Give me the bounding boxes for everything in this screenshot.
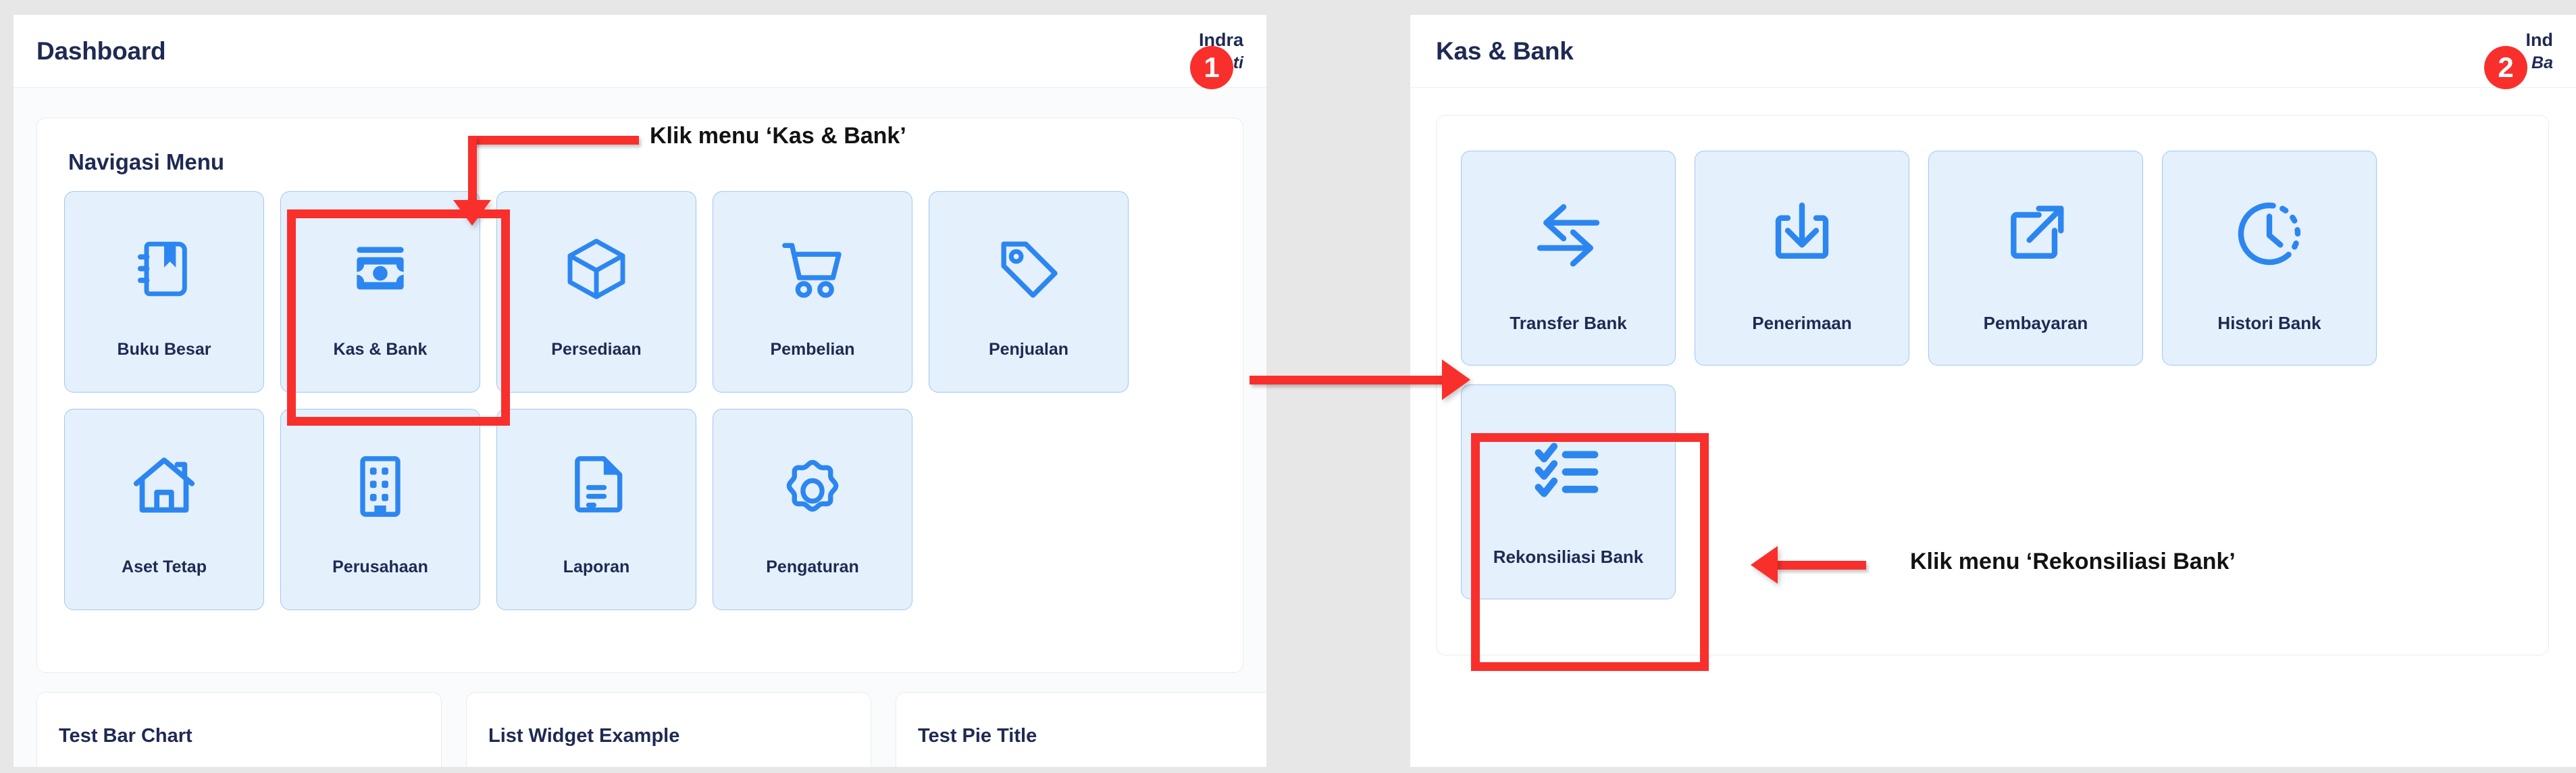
- checklist-icon: [1530, 430, 1606, 505]
- tile-pembayaran[interactable]: Pembayaran: [1928, 151, 2143, 366]
- external-link-icon: [1998, 196, 2073, 272]
- tile-persediaan[interactable]: Persediaan: [496, 191, 696, 393]
- swap-arrows-icon: [1530, 196, 1606, 272]
- annotation-2-text: Klik menu ‘Rekonsiliasi Bank’: [1910, 549, 2236, 575]
- dashboard-tile-grid: Buku Besar Kas & Bank: [64, 191, 1185, 610]
- dashboard-widget-row: Test Bar Chart List Widget Example Test …: [36, 692, 1266, 767]
- tile-label: Transfer Bank: [1462, 313, 1675, 334]
- page-title: Kas & Bank: [1436, 37, 1574, 66]
- tile-penjualan[interactable]: Penjualan: [929, 191, 1129, 393]
- panel-connector-line: [1250, 376, 1445, 384]
- document-lines-icon: [561, 451, 632, 522]
- tile-label: Buku Besar: [65, 340, 263, 359]
- shopping-cart-icon: [777, 234, 848, 304]
- kas-bank-panel: Kas & Bank Ind Tes Ba: [1410, 15, 2576, 767]
- widget-list-example[interactable]: List Widget Example: [466, 692, 871, 767]
- dashboard-body: Navigasi Menu Buku Besar: [14, 88, 1266, 767]
- ledger-book-icon: [129, 234, 199, 304]
- annotation-1-vertical-line: [468, 136, 477, 206]
- cube-box-icon: [561, 234, 632, 304]
- tile-rekonsiliasi-bank[interactable]: Rekonsiliasi Bank: [1461, 384, 1676, 599]
- tile-label: Pengaturan: [713, 557, 912, 577]
- annotation-1-horizontal-line: [468, 136, 639, 145]
- widget-test-pie-title[interactable]: Test Pie Title: [896, 692, 1266, 767]
- tile-transfer-bank[interactable]: Transfer Bank: [1461, 151, 1676, 366]
- tile-label: Kas & Bank: [281, 340, 480, 359]
- tile-pengaturan[interactable]: Pengaturan: [713, 409, 912, 610]
- tile-buku-besar[interactable]: Buku Besar: [64, 191, 264, 393]
- dashboard-panel: Dashboard Indra Testi Navigasi Menu: [14, 15, 1266, 767]
- tile-label: Laporan: [497, 557, 696, 577]
- price-tag-icon: [994, 234, 1064, 304]
- screenshot-stage: Dashboard Indra Testi Navigasi Menu: [0, 0, 2576, 773]
- tile-label: Pembayaran: [1929, 313, 2142, 334]
- gear-icon: [777, 451, 848, 522]
- widget-test-bar-chart[interactable]: Test Bar Chart: [36, 692, 442, 767]
- navigation-menu-card: Navigasi Menu Buku Besar: [36, 118, 1243, 673]
- tray-download-icon: [1764, 196, 1840, 272]
- house-icon: [129, 451, 199, 522]
- tile-aset-tetap[interactable]: Aset Tetap: [64, 409, 264, 610]
- tile-label: Penjualan: [929, 340, 1128, 359]
- navigation-menu-heading: Navigasi Menu: [68, 149, 224, 175]
- tile-perusahaan[interactable]: Perusahaan: [280, 409, 480, 610]
- tile-label: Aset Tetap: [65, 557, 263, 577]
- annotation-2-arrowhead: [1751, 546, 1778, 584]
- tile-penerimaan[interactable]: Penerimaan: [1695, 151, 1909, 366]
- tile-label: Histori Bank: [2163, 313, 2376, 334]
- step-badge-2: 2: [2484, 46, 2527, 89]
- dashboard-header: Dashboard Indra Testi: [14, 15, 1266, 88]
- kas-bank-header: Kas & Bank Ind Tes Ba: [1410, 15, 2576, 88]
- panel-connector-arrowhead: [1442, 359, 1470, 400]
- tile-kas-bank[interactable]: Kas & Bank: [280, 191, 480, 393]
- tile-label: Penerimaan: [1695, 313, 1909, 334]
- tile-label: Perusahaan: [281, 557, 480, 577]
- tile-label: Rekonsiliasi Bank: [1462, 547, 1675, 568]
- annotation-1-arrowhead: [453, 200, 491, 226]
- tile-pembelian[interactable]: Pembelian: [713, 191, 912, 393]
- kas-bank-tile-grid: Transfer Bank Penerimaan: [1461, 151, 2528, 599]
- widget-title: List Widget Example: [488, 725, 679, 747]
- step-badge-1: 1: [1190, 46, 1233, 89]
- page-title: Dashboard: [36, 37, 165, 66]
- tile-laporan[interactable]: Laporan: [496, 409, 696, 610]
- annotation-2-line: [1776, 561, 1866, 570]
- tile-label: Pembelian: [713, 340, 912, 359]
- tile-histori-bank[interactable]: Histori Bank: [2162, 151, 2377, 366]
- widget-title: Test Bar Chart: [59, 725, 192, 747]
- kas-bank-body: Transfer Bank Penerimaan: [1410, 88, 2576, 767]
- tile-label: Persediaan: [497, 340, 696, 359]
- banknote-icon: [345, 234, 415, 304]
- clock-history-icon: [2232, 196, 2307, 272]
- office-building-icon: [345, 451, 415, 522]
- widget-title: Test Pie Title: [918, 725, 1037, 747]
- annotation-1-text: Klik menu ‘Kas & Bank’: [650, 123, 906, 149]
